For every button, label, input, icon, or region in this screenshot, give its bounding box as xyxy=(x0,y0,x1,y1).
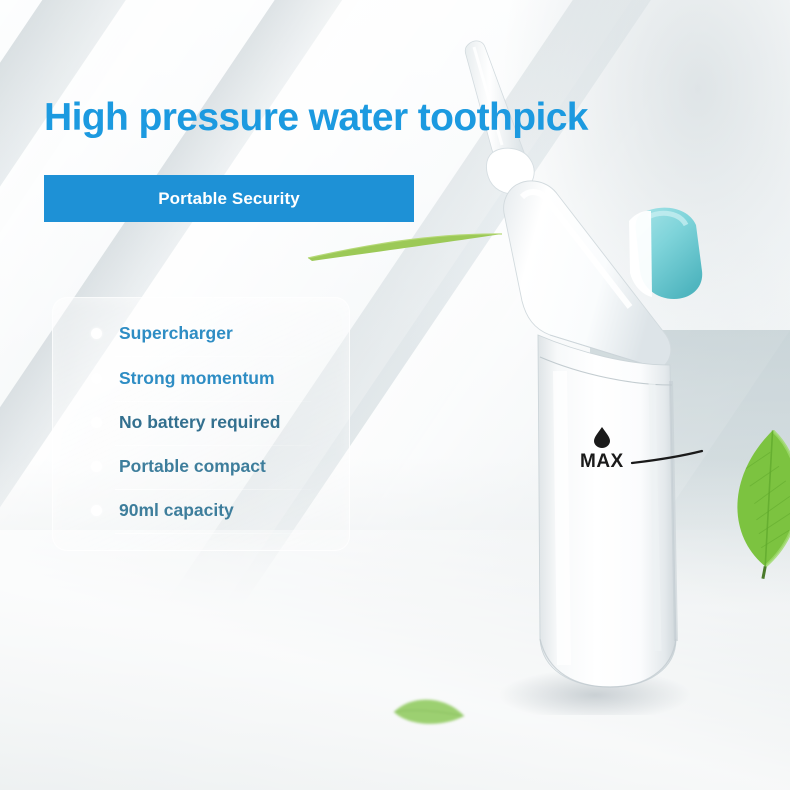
feature-label: Strong momentum xyxy=(119,368,275,389)
feature-divider xyxy=(115,533,311,534)
bullet-icon xyxy=(91,505,102,516)
bullet-icon xyxy=(91,461,102,472)
page-title: High pressure water toothpick xyxy=(44,96,588,140)
feature-label: Portable compact xyxy=(119,456,266,477)
feature-list-card: Supercharger Strong momentum No battery … xyxy=(52,297,350,551)
feature-label: No battery required xyxy=(119,412,280,433)
bullet-icon xyxy=(91,328,102,339)
feature-item-strong-momentum: Strong momentum xyxy=(53,356,349,400)
feature-item-portable-compact: Portable compact xyxy=(53,444,349,488)
tagline-banner: Portable Security xyxy=(44,175,414,222)
feature-item-no-battery-required: No battery required xyxy=(53,400,349,444)
tagline-banner-label: Portable Security xyxy=(158,189,300,209)
feature-item-supercharger: Supercharger xyxy=(53,311,349,355)
feature-label: 90ml capacity xyxy=(119,500,234,521)
product-poster: MAX High pressure water toothpick Portab… xyxy=(0,0,790,790)
bullet-icon xyxy=(91,373,102,384)
svg-text:MAX: MAX xyxy=(580,451,624,472)
feature-item-90ml-capacity: 90ml capacity xyxy=(53,488,349,532)
feature-label: Supercharger xyxy=(119,323,233,344)
bullet-icon xyxy=(91,417,102,428)
